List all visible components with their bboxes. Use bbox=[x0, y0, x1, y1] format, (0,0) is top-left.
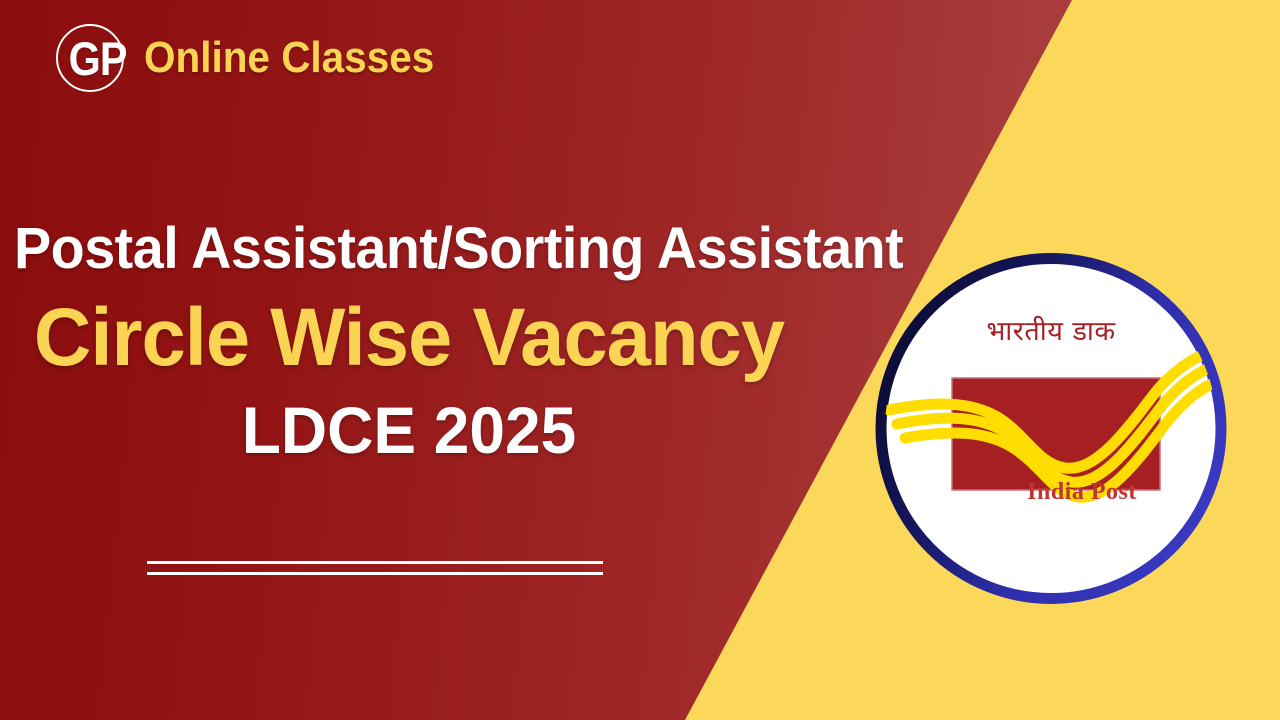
promo-banner: GP Online Classes Postal Assistant/Sorti… bbox=[0, 0, 1280, 720]
gp-monogram-text: GP bbox=[63, 35, 126, 82]
decorative-divider bbox=[147, 561, 603, 575]
india-post-logo: भारतीय डाक India Post bbox=[875, 252, 1227, 605]
divider-rule-top bbox=[147, 561, 603, 564]
brand-name-text: Online Classes bbox=[144, 36, 434, 80]
headline-line-3: LDCE 2025 bbox=[26, 391, 792, 470]
gp-circle-monogram-icon: GP bbox=[52, 20, 138, 96]
headline-line-2: Circle Wise Vacancy bbox=[26, 287, 792, 390]
headline-block: Postal Assistant/Sorting Assistant Circl… bbox=[14, 218, 924, 470]
india-post-logo-graphic bbox=[875, 252, 1227, 605]
divider-rule-bottom bbox=[147, 572, 603, 575]
brand-logo: GP Online Classes bbox=[52, 20, 459, 96]
headline-line-1: Postal Assistant/Sorting Assistant bbox=[14, 218, 888, 281]
